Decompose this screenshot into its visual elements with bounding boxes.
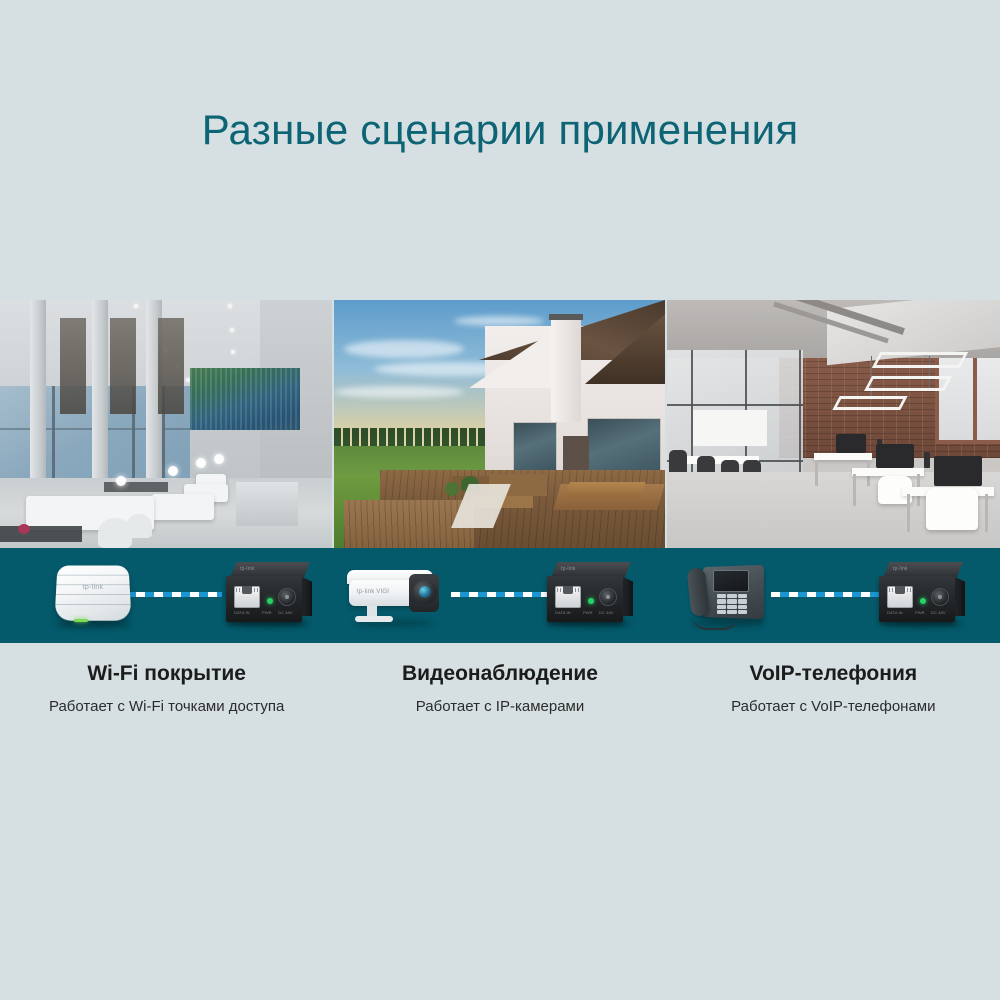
brand-logo: tp-link xyxy=(893,566,908,572)
brand-logo: tp-link xyxy=(83,584,104,591)
office-desk xyxy=(814,453,872,460)
poe-injector-icon: tp-link DATA IN PWR DC 48V xyxy=(879,562,967,624)
keypad-key[interactable] xyxy=(727,599,736,603)
page-title-container: Разные сценарии применения xyxy=(0,104,1000,156)
house-scene xyxy=(334,300,665,548)
plant xyxy=(445,482,459,496)
keypad-key[interactable] xyxy=(727,605,736,609)
desk-leg xyxy=(815,460,818,486)
led-label: PWR xyxy=(583,610,593,615)
monitor-icon xyxy=(836,434,866,453)
lobby-artwork-panel xyxy=(190,368,300,430)
caption-title: Wi-Fi покрытие xyxy=(24,660,309,688)
power-led xyxy=(920,598,926,604)
access-point-icon: tp-link xyxy=(52,564,134,626)
cloud xyxy=(454,316,544,326)
office-desk xyxy=(852,468,924,476)
pendant-light-icon xyxy=(864,376,952,391)
sun-lounger xyxy=(564,482,645,498)
brand-logo: tp-link xyxy=(240,566,255,572)
scenario-captions: Wi-Fi покрытие Работает с Wi-Fi точками … xyxy=(0,660,1000,718)
house-window xyxy=(513,422,557,472)
photo-modern-house-deck xyxy=(334,300,665,548)
desk-accessory xyxy=(924,452,930,468)
lobby-reception-desk xyxy=(236,482,298,526)
keypad-key[interactable] xyxy=(717,605,726,609)
caption-voip-telephony: VoIP-телефония Работает с VoIP-телефонам… xyxy=(667,660,1000,718)
desk-leg xyxy=(853,474,856,506)
poe-injector-icon: tp-link DATA IN PWR DC 48V xyxy=(547,562,635,624)
photo-strip xyxy=(0,300,1000,548)
lobby-sofa xyxy=(152,494,214,520)
desk-leg xyxy=(985,494,988,532)
keypad-key[interactable] xyxy=(727,594,736,598)
caption-subtitle: Работает с IP-камерами xyxy=(357,696,642,718)
lobby-chair xyxy=(126,514,152,538)
chimney xyxy=(551,318,581,422)
monitor-icon xyxy=(876,444,914,468)
diagram-wifi-coverage: tp-link tp-link DATA IN PWR DC 48V xyxy=(0,548,333,643)
dc-jack-pin xyxy=(938,595,942,599)
lobby-blind xyxy=(110,318,136,414)
access-point-body: tp-link xyxy=(54,565,131,620)
device-diagram-band: tp-link tp-link DATA IN PWR DC 48V xyxy=(0,548,1000,643)
port-label: DATA IN xyxy=(887,610,903,615)
ethernet-link-dashed xyxy=(771,592,883,597)
camera-lens xyxy=(419,586,431,598)
lobby-lamp-icon xyxy=(196,458,206,468)
bullet-camera-icon: tp-link VIGI xyxy=(347,566,457,624)
desk-phone-icon xyxy=(683,558,775,630)
camera-base xyxy=(355,616,393,622)
keypad-key[interactable] xyxy=(717,599,726,603)
dc-jack-pin xyxy=(606,595,610,599)
brand-logo: tp-link xyxy=(561,566,576,572)
status-led xyxy=(74,619,88,622)
keypad-key[interactable] xyxy=(738,594,747,598)
power-label: DC 48V xyxy=(278,610,293,615)
led-label: PWR xyxy=(915,610,925,615)
keypad-key[interactable] xyxy=(717,594,726,598)
lobby-lamp-icon xyxy=(168,466,178,476)
ceiling-light-icon xyxy=(231,350,235,354)
caption-subtitle: Работает с VoIP-телефонами xyxy=(691,696,976,718)
led-label: PWR xyxy=(262,610,272,615)
caption-wifi-coverage: Wi-Fi покрытие Работает с Wi-Fi точками … xyxy=(0,660,333,718)
brand-logo: tp-link VIGI xyxy=(357,589,389,595)
power-label: DC 48V xyxy=(599,610,614,615)
desk-leg xyxy=(907,494,910,532)
phone-keypad[interactable] xyxy=(717,594,747,614)
promo-page: Разные сценарии применения xyxy=(0,0,1000,1000)
lobby-blind xyxy=(158,318,184,414)
diagram-voip-telephony: tp-link DATA IN PWR DC 48V xyxy=(667,548,1000,643)
power-led xyxy=(588,598,594,604)
caption-title: VoIP-телефония xyxy=(691,660,976,688)
page-title: Разные сценарии применения xyxy=(0,104,1000,156)
power-label: DC 48V xyxy=(931,610,946,615)
caption-title: Видеонаблюдение xyxy=(357,660,642,688)
lobby-lamp-icon xyxy=(214,454,224,464)
phone-screen xyxy=(713,570,749,592)
pendant-light-icon xyxy=(832,396,907,410)
diagram-video-surveillance: tp-link VIGI tp-link DATA IN PWR DC xyxy=(333,548,667,643)
cloud xyxy=(344,340,464,358)
port-label: DATA IN xyxy=(555,610,571,615)
photo-industrial-open-office xyxy=(667,300,1000,548)
pendant-light-icon xyxy=(872,352,969,368)
office-chair xyxy=(926,488,978,530)
office-scene xyxy=(667,300,1000,548)
caption-video-surveillance: Видеонаблюдение Работает с IP-камерами xyxy=(333,660,666,718)
lobby-blind xyxy=(60,318,86,414)
house-window xyxy=(587,418,661,476)
rj45-notch xyxy=(895,586,905,594)
lobby-lamp-icon xyxy=(116,476,126,486)
ceiling-light-icon xyxy=(228,304,232,308)
ceiling-light-icon xyxy=(134,304,138,308)
device-shadow xyxy=(54,621,132,628)
ceiling-light-icon xyxy=(230,328,234,332)
ethernet-link-dashed xyxy=(451,592,551,597)
rj45-notch xyxy=(563,586,573,594)
dc-jack-pin xyxy=(285,595,289,599)
whiteboard xyxy=(693,410,767,446)
poe-injector-icon: tp-link DATA IN PWR DC 48V xyxy=(226,562,314,624)
port-label: DATA IN xyxy=(234,610,250,615)
lobby-scene xyxy=(0,300,332,548)
photo-hotel-lobby-interior xyxy=(0,300,332,548)
caption-subtitle: Работает с Wi-Fi точками доступа xyxy=(24,696,309,718)
lobby-coffee-table xyxy=(0,526,82,542)
cloud xyxy=(334,386,464,398)
phone-cord xyxy=(691,614,739,630)
rj45-notch xyxy=(242,586,252,594)
lobby-flowers xyxy=(18,524,30,534)
power-led xyxy=(267,598,273,604)
keypad-key[interactable] xyxy=(738,599,747,603)
monitor-icon xyxy=(934,456,982,486)
partition-mullion xyxy=(667,404,803,406)
keypad-key[interactable] xyxy=(738,605,747,609)
keypad-key[interactable] xyxy=(738,610,747,614)
lobby-table xyxy=(104,482,168,492)
chimney-cap xyxy=(549,314,583,320)
